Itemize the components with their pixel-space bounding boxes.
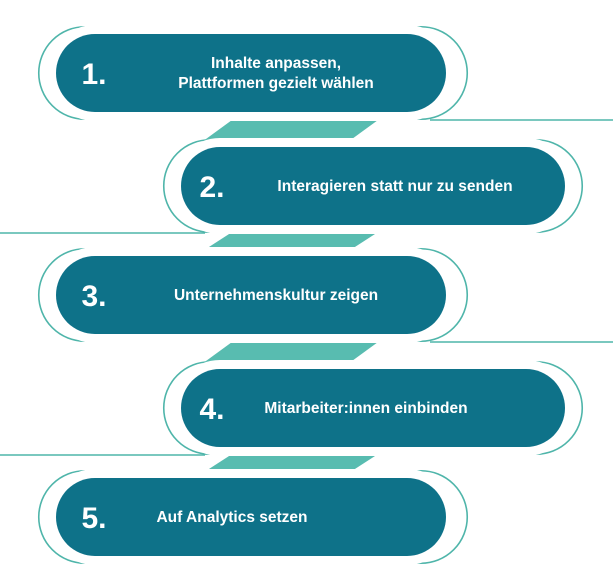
process-infographic: 1.Inhalte anpassen,Plattformen gezielt w… (0, 0, 613, 584)
step-1[interactable]: 1.Inhalte anpassen,Plattformen gezielt w… (56, 34, 446, 112)
step-pill-1[interactable] (56, 34, 446, 112)
step-label-line: Inhalte anpassen, (211, 55, 341, 72)
step-number-1: 1. (81, 58, 106, 91)
step-label-line: Mitarbeiter:innen einbinden (264, 400, 467, 417)
step-number-3: 3. (81, 280, 106, 313)
step-3[interactable]: 3.Unternehmenskultur zeigen (56, 256, 446, 334)
step-label-5: Auf Analytics setzen (156, 509, 307, 526)
step-label-3: Unternehmenskultur zeigen (174, 287, 378, 304)
step-4[interactable]: 4.Mitarbeiter:innen einbinden (181, 369, 565, 447)
step-label-line: Unternehmenskultur zeigen (174, 287, 378, 304)
step-2[interactable]: 2.Interagieren statt nur zu senden (181, 147, 565, 225)
step-label-line: Interagieren statt nur zu senden (277, 178, 512, 195)
step-label-2: Interagieren statt nur zu senden (277, 178, 512, 195)
step-5[interactable]: 5.Auf Analytics setzen (56, 478, 446, 556)
step-number-4: 4. (199, 393, 224, 426)
step-number-2: 2. (199, 171, 224, 204)
step-number-5: 5. (81, 502, 106, 535)
step-label-4: Mitarbeiter:innen einbinden (264, 400, 467, 417)
step-label-line: Plattformen gezielt wählen (178, 75, 374, 92)
step-label-line: Auf Analytics setzen (156, 509, 307, 526)
zigzag-step-diagram: 1.Inhalte anpassen,Plattformen gezielt w… (0, 0, 613, 584)
pill-layer: 1.Inhalte anpassen,Plattformen gezielt w… (47, 25, 574, 565)
